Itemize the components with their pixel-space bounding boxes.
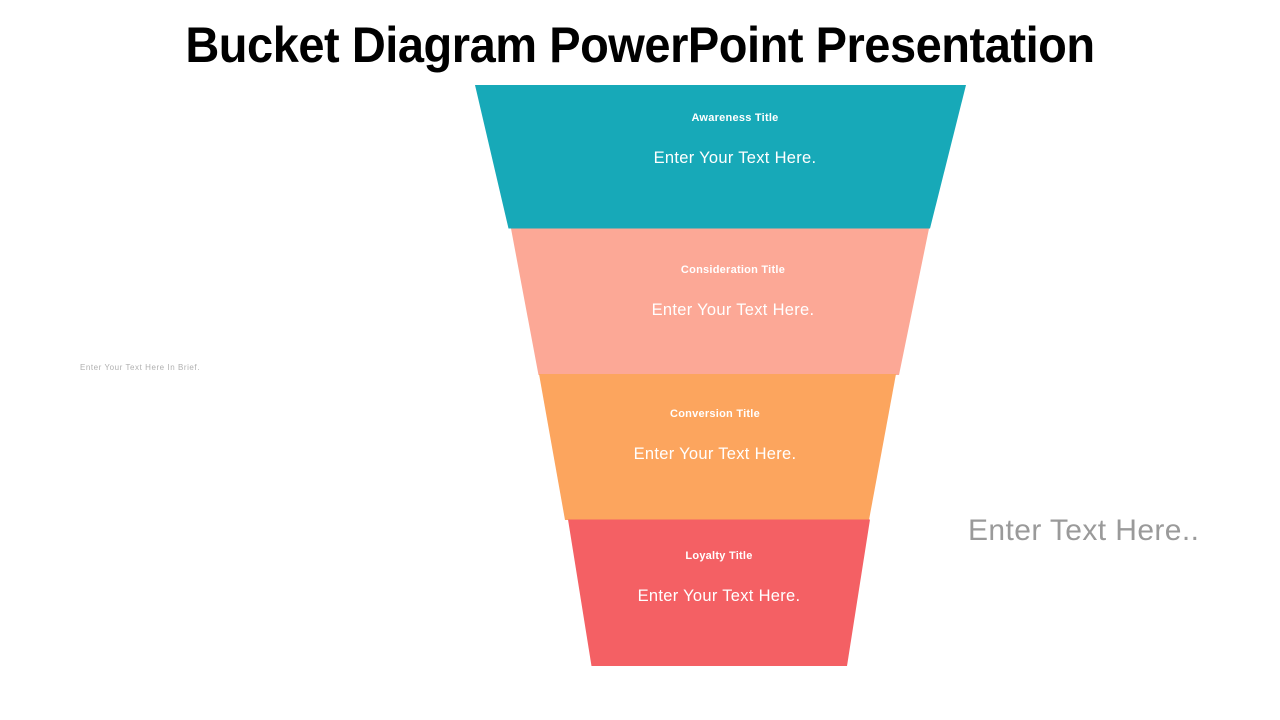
- right-placeholder-note[interactable]: Enter Text Here..: [968, 512, 1199, 550]
- funnel-segment-consideration[interactable]: [511, 229, 929, 376]
- left-brief-note[interactable]: Enter Your Text Here In Brief.: [80, 362, 200, 374]
- bucket-funnel-diagram: Awareness Title Enter Your Text Here. Co…: [0, 0, 1280, 720]
- funnel-shapes: [0, 0, 1280, 720]
- funnel-segment-awareness[interactable]: [475, 85, 966, 229]
- funnel-segment-conversion[interactable]: [539, 374, 896, 520]
- funnel-segment-loyalty[interactable]: [568, 520, 870, 667]
